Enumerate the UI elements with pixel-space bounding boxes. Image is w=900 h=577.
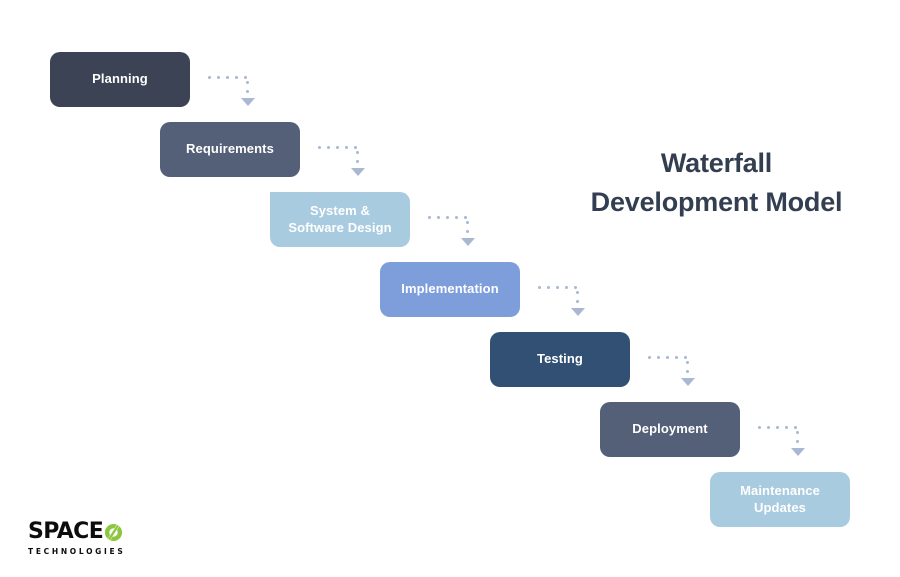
connector-vertical-dots [576, 288, 579, 308]
brand-logo: SPACE TECHNOLOGIES [28, 521, 125, 556]
connector-horizontal-dots [425, 216, 471, 219]
stage-label: Requirements [186, 141, 274, 157]
title-line: Waterfall [573, 144, 860, 183]
stage-label: System & Software Design [288, 203, 391, 236]
stage-box[interactable]: Requirements [160, 122, 300, 177]
stage-label: Planning [92, 71, 148, 87]
stage-box[interactable]: Implementation [380, 262, 520, 317]
connector-arrowhead-icon [461, 238, 475, 246]
connector-vertical-dots [246, 78, 249, 98]
stage-label: Implementation [401, 281, 498, 297]
title-line: Development Model [573, 183, 860, 222]
stage-label: Testing [537, 351, 583, 367]
connector-horizontal-dots [315, 146, 361, 149]
stage-box[interactable]: Planning [50, 52, 190, 107]
stage-box[interactable]: Maintenance Updates [710, 472, 850, 527]
stage-label: Maintenance Updates [740, 483, 820, 516]
connector-arrowhead-icon [241, 98, 255, 106]
connector-vertical-dots [466, 218, 469, 238]
connector-vertical-dots [796, 428, 799, 448]
logo-wordmark: SPACE [28, 521, 103, 543]
connector-arrowhead-icon [791, 448, 805, 456]
slashed-circle-icon [104, 523, 123, 542]
connector-horizontal-dots [755, 426, 801, 429]
connector-horizontal-dots [205, 76, 251, 79]
connector-vertical-dots [686, 358, 689, 378]
connector-vertical-dots [356, 148, 359, 168]
connector-horizontal-dots [535, 286, 581, 289]
stage-label: Deployment [632, 421, 707, 437]
connector-horizontal-dots [645, 356, 691, 359]
logo-wordmark-row: SPACE [28, 521, 125, 543]
logo-subtitle: TECHNOLOGIES [28, 548, 125, 556]
stage-box[interactable]: System & Software Design [270, 192, 410, 247]
stage-box[interactable]: Deployment [600, 402, 740, 457]
connector-arrowhead-icon [681, 378, 695, 386]
diagram-canvas: PlanningRequirementsSystem & Software De… [0, 0, 900, 577]
connector-arrowhead-icon [571, 308, 585, 316]
stage-box[interactable]: Testing [490, 332, 630, 387]
connector-arrowhead-icon [351, 168, 365, 176]
diagram-title: WaterfallDevelopment Model [573, 144, 860, 222]
